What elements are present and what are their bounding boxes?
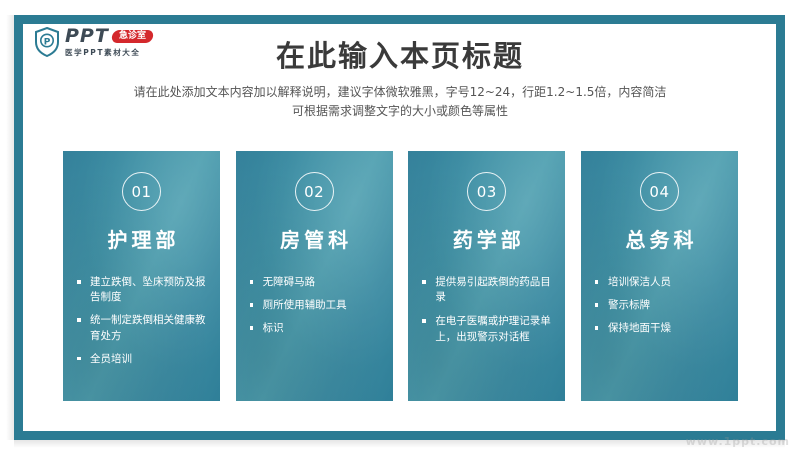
list-item: 警示标牌 xyxy=(595,298,726,313)
card-03-bullet-list: 提供易引起跌倒的药品目录 在电子医嘱或护理记录单上，出现警示对话框 xyxy=(422,275,553,345)
card-04-bullet-list: 培训保洁人员 警示标牌 保持地面干燥 xyxy=(595,275,726,337)
page-subtitle-line-1: 请在此处添加文本内容加以解释说明，建议字体微软雅黑，字号12~24，行距1.2~… xyxy=(0,83,800,102)
card-02-number: 02 xyxy=(295,172,334,211)
card-01-number: 01 xyxy=(122,172,161,211)
card-03-body: 03 药学部 提供易引起跌倒的药品目录 在电子医嘱或护理记录单上，出现警示对话框 xyxy=(408,172,565,345)
list-item: 无障碍马路 xyxy=(250,275,381,290)
card-03[interactable]: 03 药学部 提供易引起跌倒的药品目录 在电子医嘱或护理记录单上，出现警示对话框 xyxy=(408,151,565,401)
frame-shadow-bottom xyxy=(14,440,785,448)
page-title: 在此输入本页标题 xyxy=(0,33,800,75)
list-item: 提供易引起跌倒的药品目录 xyxy=(422,275,553,305)
card-02-bullet-list: 无障碍马路 厕所使用辅助工具 标识 xyxy=(250,275,381,337)
card-02-body: 02 房管科 无障碍马路 厕所使用辅助工具 标识 xyxy=(236,172,393,337)
list-item: 厕所使用辅助工具 xyxy=(250,298,381,313)
list-item: 标识 xyxy=(250,321,381,336)
card-01-body: 01 护理部 建立跌倒、坠床预防及报告制度 统一制定跌倒相关健康教育处方 全员培… xyxy=(63,172,220,367)
card-04-body: 04 总务科 培训保洁人员 警示标牌 保持地面干燥 xyxy=(581,172,738,337)
card-03-title: 药学部 xyxy=(408,224,565,253)
card-04[interactable]: 04 总务科 培训保洁人员 警示标牌 保持地面干燥 xyxy=(581,151,738,401)
site-watermark: www.1ppt.com xyxy=(686,435,790,448)
card-02-title: 房管科 xyxy=(236,224,393,253)
card-row: 01 护理部 建立跌倒、坠床预防及报告制度 统一制定跌倒相关健康教育处方 全员培… xyxy=(63,151,738,401)
slide: P PPT 急诊室 医学PPT素材大全 在此输入本页标题 请在此处添加文本内容加… xyxy=(0,0,800,450)
list-item: 培训保洁人员 xyxy=(595,275,726,290)
card-02[interactable]: 02 房管科 无障碍马路 厕所使用辅助工具 标识 xyxy=(236,151,393,401)
page-subtitle-line-2: 可根据需求调整文字的大小或颜色等属性 xyxy=(0,102,800,121)
page-subtitle: 请在此处添加文本内容加以解释说明，建议字体微软雅黑，字号12~24，行距1.2~… xyxy=(0,83,800,120)
card-04-number: 04 xyxy=(640,172,679,211)
card-01-title: 护理部 xyxy=(63,224,220,253)
list-item: 全员培训 xyxy=(77,352,208,367)
card-04-title: 总务科 xyxy=(581,224,738,253)
list-item: 保持地面干燥 xyxy=(595,321,726,336)
card-01[interactable]: 01 护理部 建立跌倒、坠床预防及报告制度 统一制定跌倒相关健康教育处方 全员培… xyxy=(63,151,220,401)
list-item: 在电子医嘱或护理记录单上，出现警示对话框 xyxy=(422,314,553,344)
list-item: 统一制定跌倒相关健康教育处方 xyxy=(77,313,208,343)
list-item: 建立跌倒、坠床预防及报告制度 xyxy=(77,275,208,305)
card-01-bullet-list: 建立跌倒、坠床预防及报告制度 统一制定跌倒相关健康教育处方 全员培训 xyxy=(77,275,208,367)
card-03-number: 03 xyxy=(467,172,506,211)
